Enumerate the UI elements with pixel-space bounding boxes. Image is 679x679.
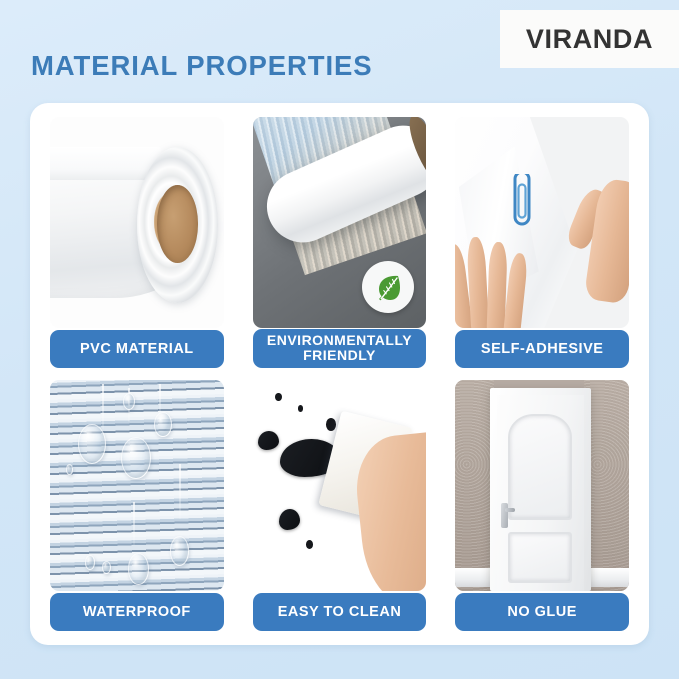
feature-grid: PVC MATERIAL [41,115,638,633]
door-leaf [497,395,584,591]
door-frame [490,388,591,591]
feature-cell-self-adhesive: SELF-ADHESIVE [446,115,638,370]
paperclip-icon [507,174,537,232]
right-hand [570,180,629,307]
water-droplets-photo [50,380,224,591]
door-handle [501,503,509,529]
brand-logo: VIRANDA [500,10,679,68]
page-title: MATERIAL PROPERTIES [31,50,373,82]
feature-label-self-adhesive: SELF-ADHESIVE [455,330,629,368]
feature-label-easy-to-clean: EASY TO CLEAN [253,593,427,631]
door-panel-bottom [508,532,572,583]
feature-cell-environmentally-friendly: ENVIRONMENTALLY FRIENDLY [244,115,436,370]
pvc-cardboard-core [157,185,199,263]
header: MATERIAL PROPERTIES VIRANDA [0,0,679,103]
feature-card: PVC MATERIAL [30,103,649,645]
feature-label-pvc-material: PVC MATERIAL [50,330,224,368]
eco-badge [362,261,414,313]
door-panel-top [508,414,572,520]
wiping-stains-photo [253,380,427,591]
wall-left [455,380,493,591]
peeling-backing-photo [455,117,629,328]
brand-logo-text: VIRANDA [526,24,653,55]
pvc-roll-photo [50,117,224,328]
rolled-wallpaper-photo [253,117,427,328]
baseboard-left [455,568,493,587]
pvc-top-sheet [50,147,161,181]
wallpaper-roll-tip [403,117,427,189]
left-hand [455,235,528,328]
material-properties-infographic: MATERIAL PROPERTIES VIRANDA PVC MATERIAL [0,0,679,679]
feature-cell-no-glue: NO GLUE [446,378,638,633]
feature-cell-pvc-material: PVC MATERIAL [41,115,233,370]
white-door-photo [455,380,629,591]
feature-label-no-glue: NO GLUE [455,593,629,631]
feature-cell-easy-to-clean: EASY TO CLEAN [244,378,436,633]
feature-label-environmentally-friendly: ENVIRONMENTALLY FRIENDLY [253,329,427,368]
feature-label-waterproof: WATERPROOF [50,593,224,631]
feature-cell-waterproof: WATERPROOF [41,378,233,633]
leaf-icon [372,271,404,303]
